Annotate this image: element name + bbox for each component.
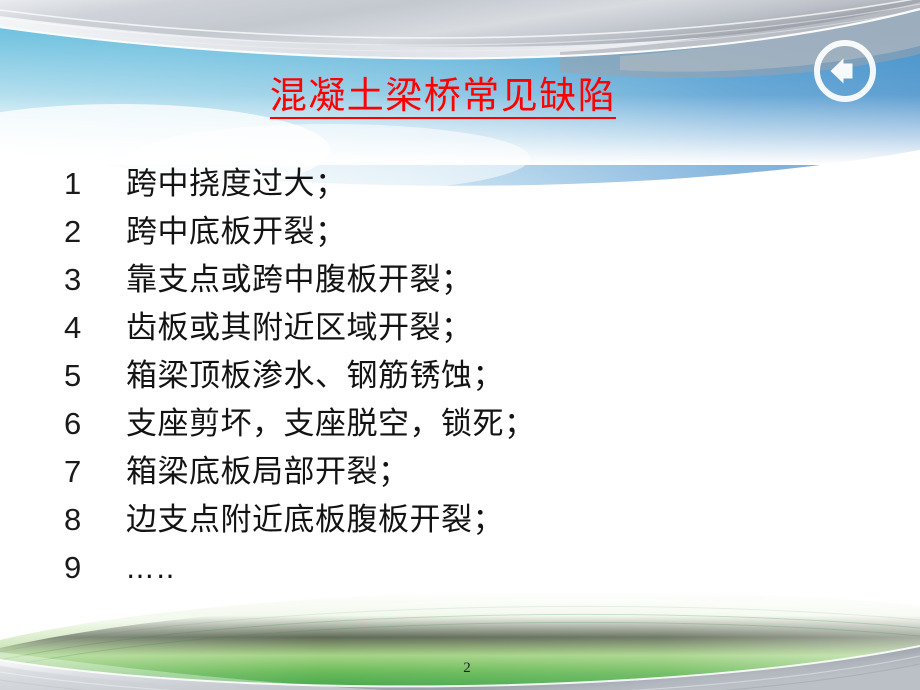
list-item-number: 6 <box>58 400 126 448</box>
list-item: 1 跨中挠度过大； <box>58 160 888 208</box>
list-item-number: 8 <box>58 496 126 544</box>
list-item: 9 …‥ <box>58 544 888 592</box>
list-item-number: 2 <box>58 208 126 256</box>
page-number: 2 <box>455 660 479 677</box>
list-item-number: 3 <box>58 256 126 304</box>
page-title: 混凝土梁桥常见缺陷 <box>270 78 617 119</box>
list-item-number: 1 <box>58 160 126 208</box>
list-item-text: 箱梁底板局部开裂； <box>126 448 888 496</box>
page-title-container: 混凝土梁桥常见缺陷 <box>0 78 920 119</box>
list-item-text: 跨中挠度过大； <box>126 160 888 208</box>
list-item-number: 5 <box>58 352 126 400</box>
list-item-text: 靠支点或跨中腹板开裂； <box>126 256 888 304</box>
list-item: 8 边支点附近底板腹板开裂； <box>58 496 888 544</box>
list-item: 4 齿板或其附近区域开裂； <box>58 304 888 352</box>
list-item-text: 边支点附近底板腹板开裂； <box>126 496 888 544</box>
defect-list: 1 跨中挠度过大； 2 跨中底板开裂； 3 靠支点或跨中腹板开裂； 4 齿板或其… <box>58 160 888 592</box>
list-item-number: 4 <box>58 304 126 352</box>
list-item-text: 箱梁顶板渗水、钢筋锈蚀； <box>126 352 888 400</box>
list-item-text: 齿板或其附近区域开裂； <box>126 304 888 352</box>
list-item-text: 支座剪坏，支座脱空，锁死； <box>126 400 888 448</box>
slide-canvas: 混凝土梁桥常见缺陷 1 跨中挠度过大； 2 跨中底板开裂； 3 靠支点或跨中腹板… <box>0 0 920 690</box>
list-item-text: …‥ <box>126 545 888 593</box>
list-item-number: 9 <box>58 544 126 592</box>
list-item: 5 箱梁顶板渗水、钢筋锈蚀； <box>58 352 888 400</box>
list-item-number: 7 <box>58 448 126 496</box>
list-item: 6 支座剪坏，支座脱空，锁死； <box>58 400 888 448</box>
list-item: 2 跨中底板开裂； <box>58 208 888 256</box>
list-item-text: 跨中底板开裂； <box>126 208 888 256</box>
list-item: 3 靠支点或跨中腹板开裂； <box>58 256 888 304</box>
list-item: 7 箱梁底板局部开裂； <box>58 448 888 496</box>
